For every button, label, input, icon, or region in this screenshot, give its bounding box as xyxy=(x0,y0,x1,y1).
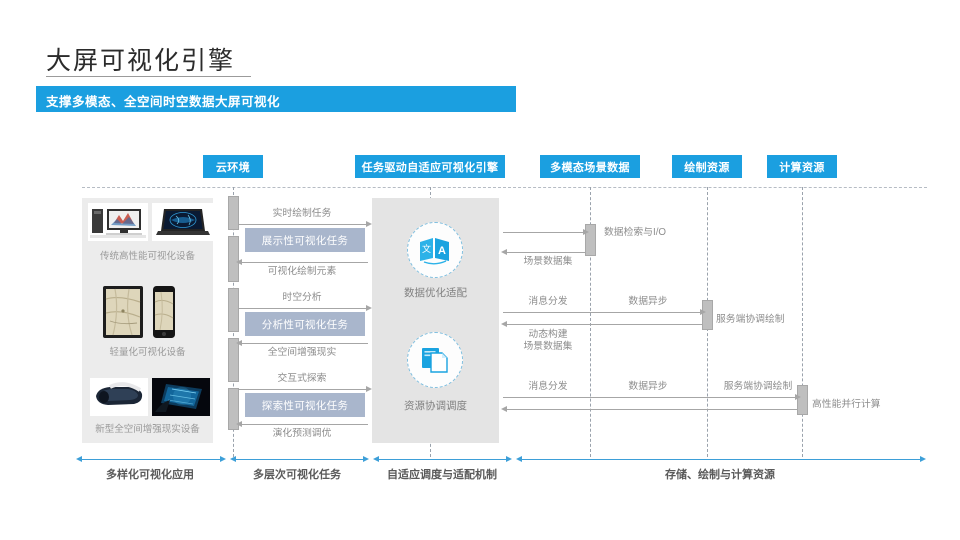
axis-segment-resources xyxy=(518,459,922,460)
axis-head-2-right xyxy=(363,456,369,462)
arrowhead-data-retrieval-io xyxy=(583,229,589,235)
axis-label-tasks: 多层次可视化任务 xyxy=(222,466,372,482)
task-box-exploratory[interactable]: 探索性可视化任务 xyxy=(245,393,365,417)
arrowhead-dispatch-to-render xyxy=(700,309,706,315)
device-group-hpc xyxy=(88,203,214,241)
msg-data-retrieval-io: 数据检索与I/O xyxy=(604,227,700,239)
axis-segment-scheduling xyxy=(375,459,508,460)
msg-server-coordinated-render-2: 服务端协调绘制 xyxy=(710,381,806,393)
axis-head-3-left xyxy=(373,456,379,462)
task-box-label: 探索性可视化任务 xyxy=(262,398,348,413)
axis-head-4-right xyxy=(920,456,926,462)
device-group-lightweight xyxy=(101,285,179,339)
arrow-full-space-ar xyxy=(238,343,368,344)
msg-visual-render-elements: 可视化绘制元素 xyxy=(237,266,367,278)
vr-headset-image xyxy=(90,378,148,416)
arrowhead-visual-render-elements xyxy=(236,259,242,265)
engine-label-resource-scheduling: 资源协调调度 xyxy=(372,398,499,413)
msg-message-dispatch-2: 消息分发 xyxy=(508,381,588,393)
axis-head-4-left xyxy=(516,456,522,462)
msg-interactive-exploration: 交互式探索 xyxy=(237,373,367,385)
actor-multimodal-scene-data[interactable]: 多模态场景数据 xyxy=(540,155,640,178)
msg-data-async-2: 数据异步 xyxy=(608,381,688,393)
task-box-presentation[interactable]: 展示性可视化任务 xyxy=(245,228,365,252)
msg-data-async-1: 数据异步 xyxy=(608,296,688,308)
device-label-ar: 新型全空间增强现实设备 xyxy=(82,421,213,435)
arrow-evolution-prediction-tuning xyxy=(238,424,368,425)
msg-scene-dataset: 场景数据集 xyxy=(508,256,588,268)
arrowhead-scene-dataset xyxy=(501,249,507,255)
axis-segment-tasks xyxy=(232,459,365,460)
arrow-interactive-exploration xyxy=(238,389,368,390)
msg-server-coordinated-render-1: 服务端协调绘制 xyxy=(716,314,812,326)
arrow-compute-to-engine xyxy=(503,409,797,410)
msg-realtime-render-task: 实时绘制任务 xyxy=(237,208,367,220)
axis-head-3-right xyxy=(506,456,512,462)
tablet-map-image xyxy=(101,285,145,339)
axis-segment-applications xyxy=(78,459,222,460)
arrowhead-compute-to-engine xyxy=(501,406,507,412)
copy-documents-icon xyxy=(407,332,463,388)
axis-label-resources: 存储、绘制与计算资源 xyxy=(530,466,910,482)
axis-head-2-left xyxy=(230,456,236,462)
arrow-visual-render-elements xyxy=(238,262,368,263)
task-box-label: 展示性可视化任务 xyxy=(262,233,348,248)
axis-label-scheduling: 自适应调度与适配机制 xyxy=(368,466,516,482)
arrow-spatiotemporal-analysis xyxy=(238,308,368,309)
actor-label: 绘制资源 xyxy=(684,159,730,175)
slide-root: 大屏可视化引擎 支撑多模态、全空间时空数据大屏可视化 云环境 任务驱动自适应可视… xyxy=(0,0,960,540)
arrow-render-to-engine xyxy=(503,324,702,325)
translate-icon: 文 A xyxy=(407,222,463,278)
arrow-data-retrieval-io xyxy=(503,232,585,233)
task-box-analytical[interactable]: 分析性可视化任务 xyxy=(245,312,365,336)
engine-label-data-optimization: 数据优化适配 xyxy=(372,285,499,300)
arrowhead-evolution-prediction-tuning xyxy=(236,421,242,427)
device-group-ar xyxy=(90,378,210,416)
task-box-label: 分析性可视化任务 xyxy=(262,317,348,332)
header-separator xyxy=(82,187,927,188)
actor-label: 云环境 xyxy=(216,159,250,175)
axis-label-applications: 多样化可视化应用 xyxy=(72,466,228,482)
actor-visualization-engine[interactable]: 任务驱动自适应可视化引擎 xyxy=(355,155,505,178)
msg-hpc-parallel-computing: 高性能并行计算 xyxy=(812,399,912,411)
sequence-diagram: 云环境 任务驱动自适应可视化引擎 多模态场景数据 绘制资源 计算资源 xyxy=(0,0,960,540)
arrow-realtime-render-task xyxy=(238,224,368,225)
actor-label: 任务驱动自适应可视化引擎 xyxy=(362,159,499,175)
arrowhead-render-to-engine xyxy=(501,321,507,327)
msg-evolution-prediction-tuning: 演化预测调优 xyxy=(237,428,367,440)
arrow-dispatch-to-render xyxy=(503,312,702,313)
actor-label: 多模态场景数据 xyxy=(550,159,630,175)
msg-dynamic-build-line1: 动态构建 xyxy=(505,329,591,341)
actor-label: 计算资源 xyxy=(779,159,825,175)
axis-head-1-left xyxy=(76,456,82,462)
arrow-scene-dataset xyxy=(503,252,585,253)
arrow-dispatch-to-compute xyxy=(503,397,797,398)
msg-spatiotemporal-analysis: 时空分析 xyxy=(237,292,367,304)
actor-cloud-environment[interactable]: 云环境 xyxy=(203,155,263,178)
actor-computing-resource[interactable]: 计算资源 xyxy=(767,155,837,178)
msg-full-space-ar: 全空间增强现实 xyxy=(237,347,367,359)
phone-map-image xyxy=(149,285,179,339)
svg-text:文: 文 xyxy=(422,243,431,255)
laptop-globe-image xyxy=(152,203,214,241)
device-label-hpc: 传统高性能可视化设备 xyxy=(82,248,213,262)
actor-rendering-resource[interactable]: 绘制资源 xyxy=(672,155,742,178)
device-label-lightweight: 轻量化可视化设备 xyxy=(82,344,213,358)
desktop-workstation-image xyxy=(88,203,148,241)
arrowhead-full-space-ar xyxy=(236,340,242,346)
ar-hologram-image xyxy=(152,378,210,416)
svg-text:A: A xyxy=(438,245,446,257)
axis-head-1-right xyxy=(220,456,226,462)
arrowhead-dispatch-to-compute xyxy=(795,394,801,400)
msg-dynamic-build-line2: 场景数据集 xyxy=(505,341,591,353)
msg-message-dispatch-1: 消息分发 xyxy=(508,296,588,308)
activation-rendering-resource xyxy=(702,300,713,330)
